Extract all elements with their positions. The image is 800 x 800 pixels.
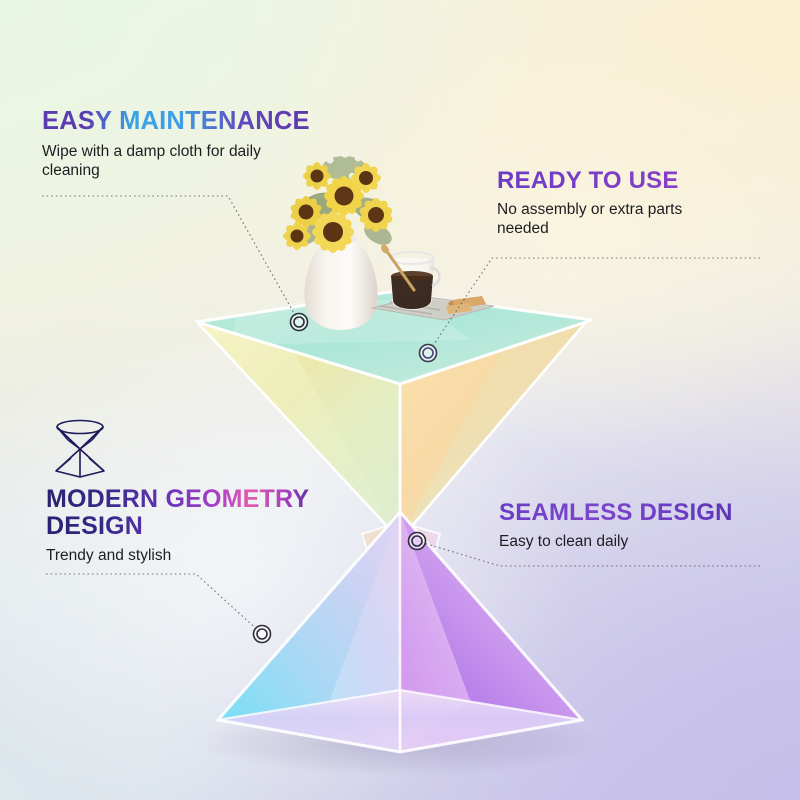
callout-title-easy-maintenance: EASY MAINTENANCE — [42, 108, 310, 136]
callout-title-modern-geometry-design: MODERN GEOMETRY DESIGN — [46, 486, 326, 540]
callout-subtitle-modern-geometry-design: Trendy and stylish — [46, 546, 261, 565]
callout-easy-maintenance: EASY MAINTENANCE Wipe with a damp cloth … — [42, 108, 310, 180]
callout-ready-to-use: READY TO USE No assembly or extra parts … — [497, 168, 722, 238]
callout-title-seamless-design: SEAMLESS DESIGN — [499, 500, 733, 526]
callout-marker-modern-geometry[interactable] — [254, 626, 271, 643]
callout-seamless-design: SEAMLESS DESIGN Easy to clean daily — [499, 500, 733, 551]
leader-line-easy-maintenance — [42, 196, 299, 322]
leader-line-modern-geometry — [46, 574, 262, 634]
coffee-cup-prop — [372, 243, 494, 320]
infographic-canvas: EASY MAINTENANCE Wipe with a damp cloth … — [0, 0, 800, 800]
hourglass-wireframe-icon — [48, 418, 112, 480]
callout-modern-geometry-design: MODERN GEOMETRY DESIGN Trendy and stylis… — [46, 486, 326, 565]
callout-title-ready-to-use: READY TO USE — [497, 168, 722, 194]
callout-subtitle-easy-maintenance: Wipe with a damp cloth for daily cleanin… — [42, 142, 274, 180]
callout-subtitle-seamless-design: Easy to clean daily — [499, 532, 699, 551]
callout-subtitle-ready-to-use: No assembly or extra parts needed — [497, 200, 722, 238]
vase — [304, 238, 377, 330]
